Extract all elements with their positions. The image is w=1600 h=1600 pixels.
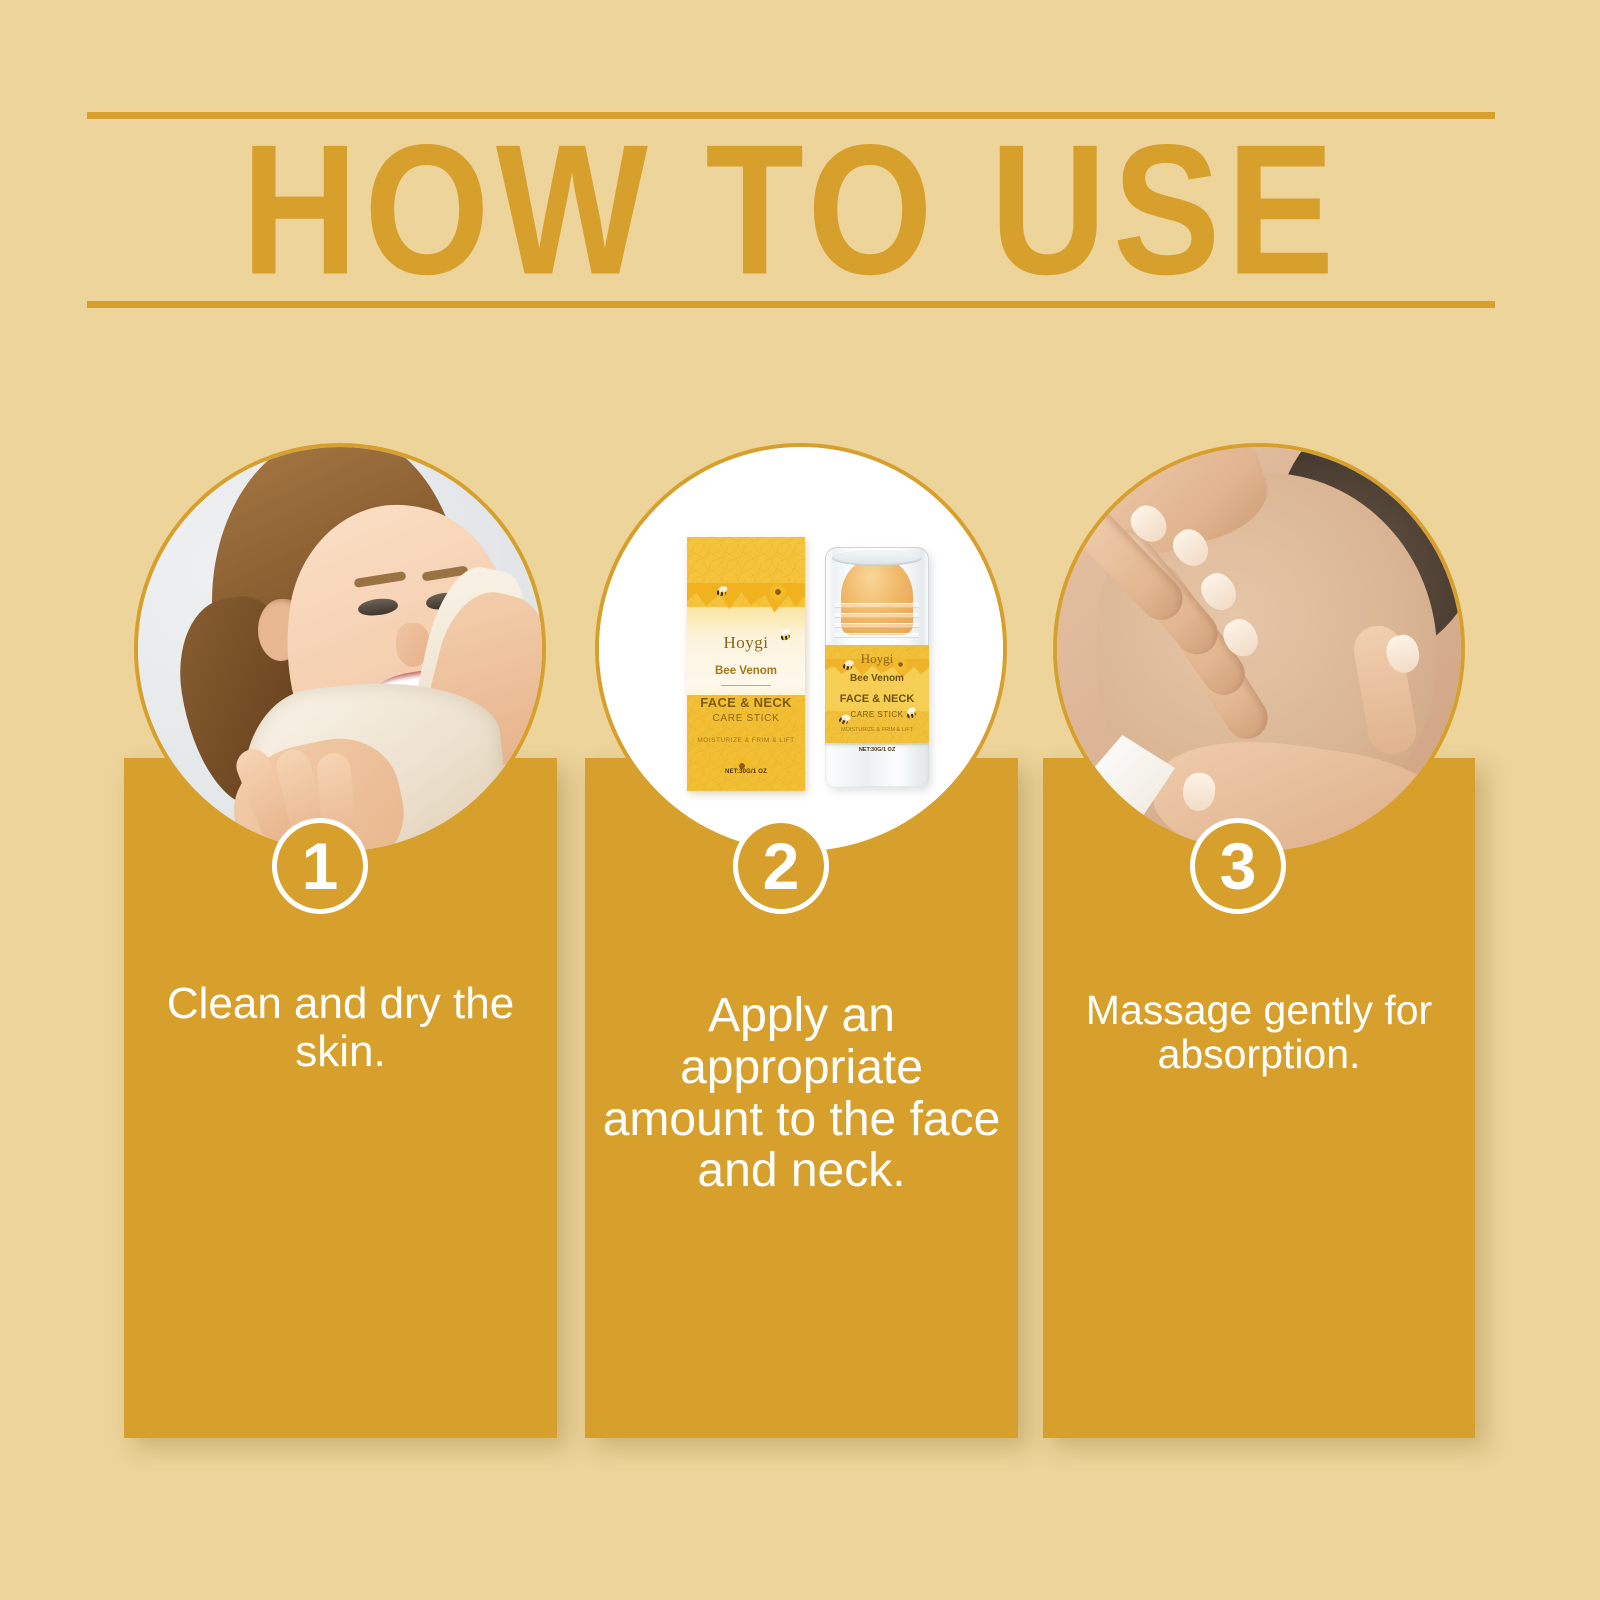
- label-divider: [721, 685, 771, 686]
- step-number-badge-3: 3: [1190, 818, 1286, 914]
- step-number-badge-2: 2: [733, 818, 829, 914]
- sunflower-icon: [771, 585, 785, 599]
- product-line: Bee Venom: [825, 673, 929, 684]
- step-1-photo: [134, 443, 546, 855]
- step-2-photo: Hoygi Bee Venom FACE & NECK CARE STICK M…: [595, 443, 1007, 855]
- step-caption-3: Massage gently for absorption.: [1053, 988, 1465, 1077]
- product-brand: Hoygi: [825, 651, 929, 667]
- product-claims: MOISTURIZE & FRIM & LIFT: [825, 727, 929, 733]
- tube-ring: [835, 603, 919, 608]
- step-caption-2: Apply an appropriate amount to the face …: [600, 990, 1003, 1197]
- tube-ring: [835, 623, 919, 628]
- step-caption-1: Clean and dry the skin.: [144, 980, 537, 1075]
- bee-icon: [715, 588, 729, 598]
- product-carton: Hoygi Bee Venom FACE & NECK CARE STICK M…: [687, 537, 805, 791]
- stick-rim: [832, 550, 922, 566]
- product-subname: CARE STICK: [687, 713, 805, 724]
- step-3-photo: [1053, 443, 1465, 855]
- tube-ring: [835, 613, 919, 618]
- step-number-badge-1: 1: [272, 818, 368, 914]
- product-brand: Hoygi: [687, 633, 805, 653]
- product-subname: CARE STICK: [825, 710, 929, 719]
- product-net-weight: NET:30G/1 OZ: [687, 769, 805, 775]
- steps-container: 1 Clean and dry the skin. Hoygi Bee Veno…: [0, 0, 1600, 1600]
- product-line: Bee Venom: [687, 665, 805, 677]
- product-name: FACE & NECK: [687, 695, 805, 710]
- product-stick: Hoygi Bee Venom FACE & NECK CARE STICK M…: [825, 547, 929, 787]
- product-claims: MOISTURIZE & FRIM & LIFT: [687, 737, 805, 744]
- product-net-weight: NET:30G/1 OZ: [825, 747, 929, 753]
- product-name: FACE & NECK: [825, 693, 929, 705]
- tube-ring: [835, 633, 919, 638]
